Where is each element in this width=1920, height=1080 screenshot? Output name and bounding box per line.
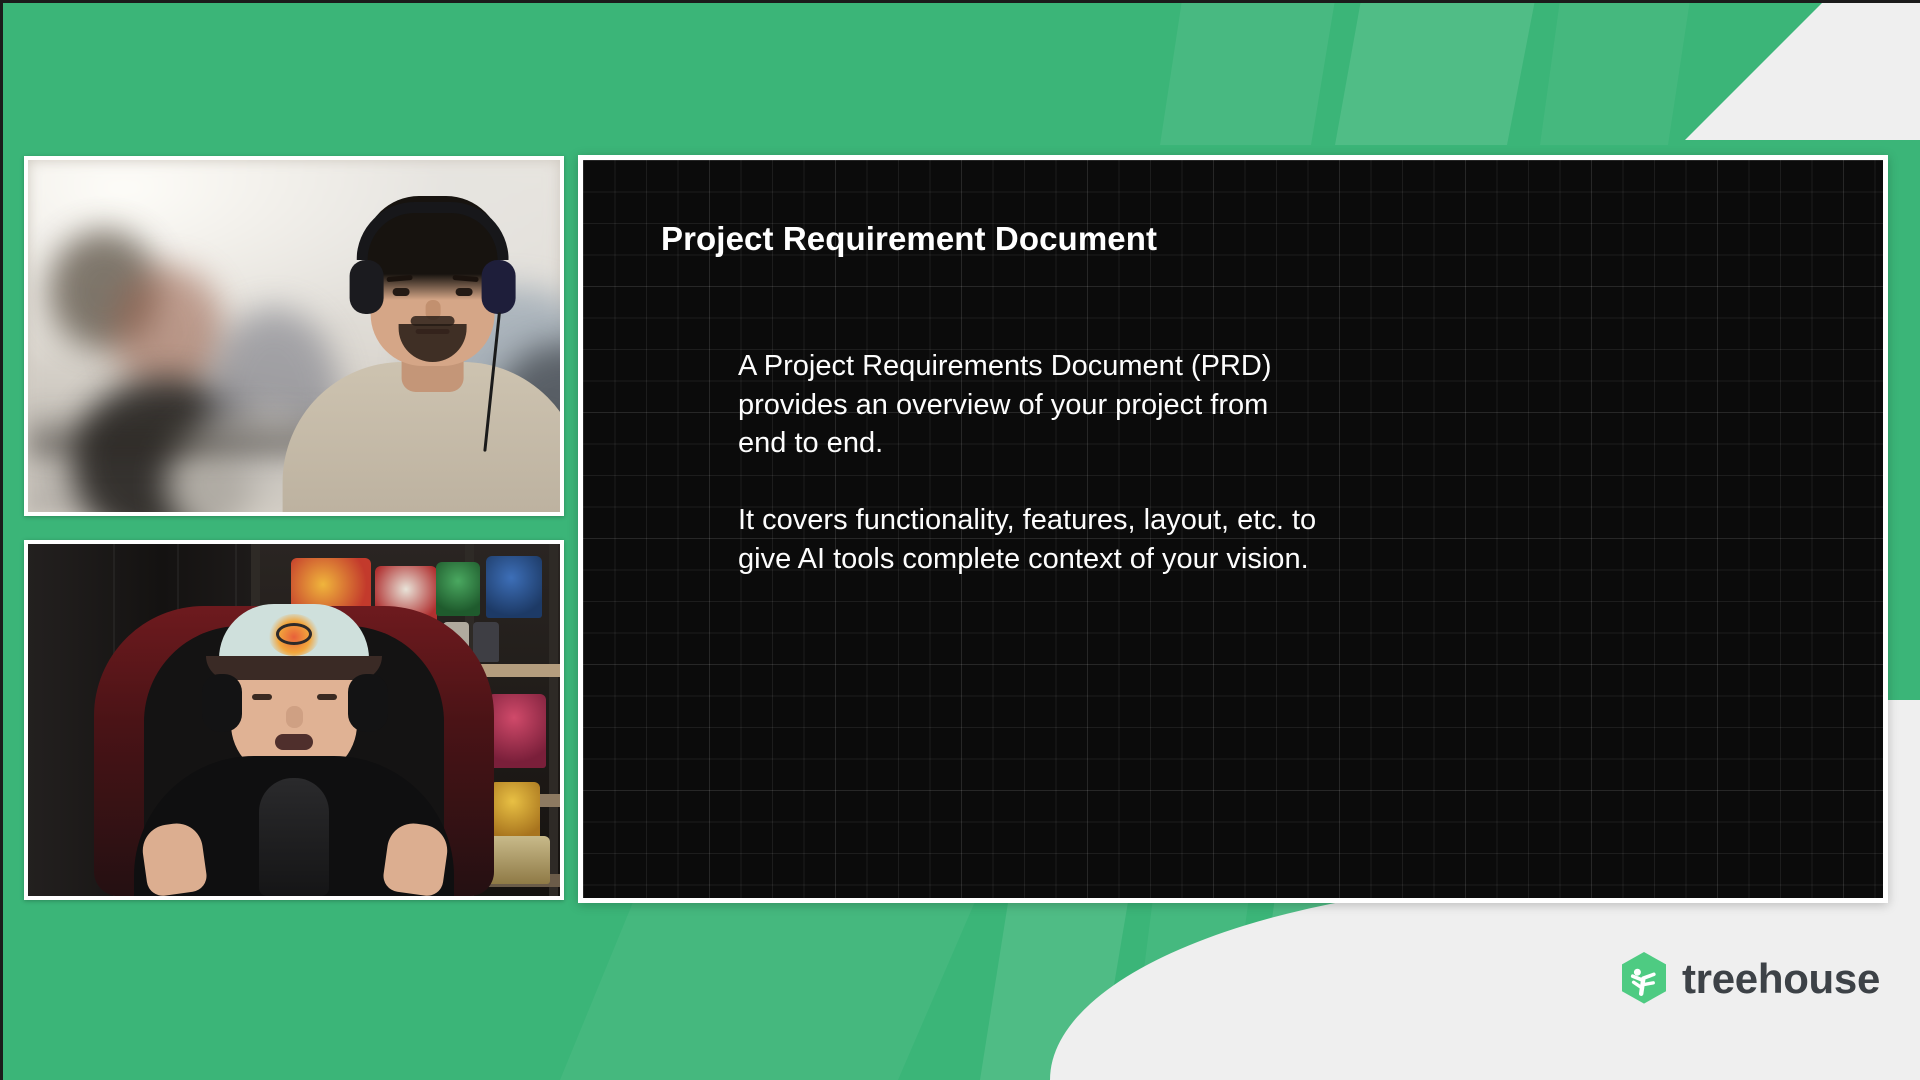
slide-paragraph-2: It covers functionality, features, layou…: [738, 501, 1638, 578]
presenter-eye: [456, 288, 473, 296]
shelf-post: [549, 544, 558, 896]
microphone: [259, 778, 329, 896]
slide-body: A Project Requirements Document (PRD) pr…: [738, 347, 1638, 578]
slide-paragraph-1: A Project Requirements Document (PRD) pr…: [738, 347, 1638, 463]
presenter-eye: [252, 694, 272, 700]
slide-title: Project Requirement Document: [661, 220, 1157, 258]
presenter-eye: [393, 288, 410, 296]
stage-edge-top: [0, 0, 1920, 3]
treehouse-hex-mark-icon: [1620, 952, 1668, 1006]
headphone-earcup: [482, 260, 516, 314]
presenter-eye: [317, 694, 337, 700]
presenter-figure-bottom: [84, 566, 504, 896]
camera-scene-office: [28, 160, 560, 512]
stage-edge-left: [0, 0, 3, 1080]
office-blur-blob: [113, 266, 223, 396]
cap-team-logo: [268, 614, 320, 656]
presentation-slide: Project Requirement Document A Project R…: [583, 160, 1883, 898]
camera-feed-top: [28, 160, 560, 512]
stream-stage: Project Requirement Document A Project R…: [0, 0, 1920, 1080]
headphone-earcup: [202, 674, 242, 732]
headphone-earcup: [348, 674, 388, 732]
presenter-camera-top[interactable]: [24, 156, 564, 516]
presenter-nose: [286, 706, 303, 728]
presentation-slide-frame[interactable]: Project Requirement Document A Project R…: [578, 155, 1888, 903]
camera-feed-bottom: [28, 544, 560, 896]
presenter-figure-top: [268, 212, 560, 512]
treehouse-wordmark: treehouse: [1682, 958, 1880, 1000]
headphone-earcup: [350, 260, 384, 314]
presenter-mouth: [275, 734, 313, 750]
treehouse-logo: treehouse: [1620, 952, 1880, 1006]
presenter-camera-bottom[interactable]: [24, 540, 564, 900]
camera-scene-studio: [28, 544, 560, 896]
